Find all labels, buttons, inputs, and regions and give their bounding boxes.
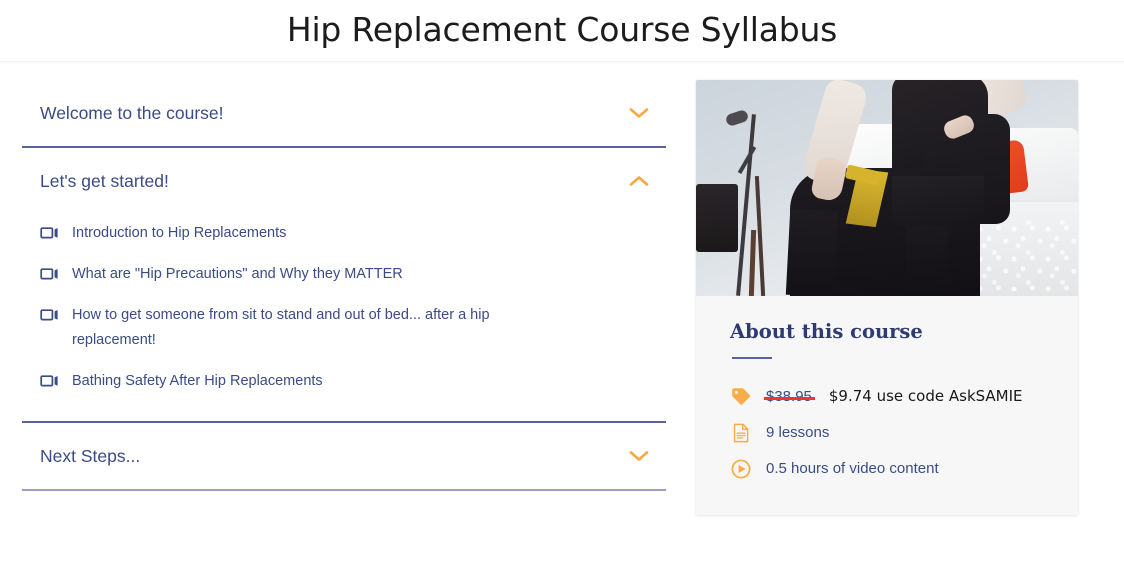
price-discounted-with-code: $9.74 use code AskSAMIE [829, 385, 1023, 407]
price-text: $38.95 $9.74 use code AskSAMIE [766, 385, 1023, 408]
syllabus-accordion: Welcome to the course! Let's get started… [22, 80, 666, 491]
about-course-card: About this course $38.95 $9.74 use code … [696, 80, 1078, 515]
lessons-count-row: 9 lessons [730, 415, 1044, 451]
lesson-label: Introduction to Hip Replacements [72, 221, 286, 246]
price-tag-icon [730, 386, 752, 408]
video-duration-text: 0.5 hours of video content [766, 458, 939, 480]
course-thumbnail-image [696, 80, 1078, 296]
accordion-section-title: Next Steps... [40, 445, 140, 467]
list-item[interactable]: Bathing Safety After Hip Replacements [40, 362, 660, 403]
video-camera-icon [40, 371, 59, 391]
accordion-section-title: Welcome to the course! [40, 102, 224, 124]
accordion-header-welcome[interactable]: Welcome to the course! [22, 80, 666, 146]
list-item[interactable]: How to get someone from sit to stand and… [40, 296, 660, 362]
accordion-header-next-steps[interactable]: Next Steps... [22, 423, 666, 489]
lessons-count-text: 9 lessons [766, 422, 829, 444]
accordion-section: Let's get started! Introduction to Hip R… [22, 148, 666, 423]
page-body: Welcome to the course! Let's get started… [0, 62, 1124, 515]
lesson-label: What are "Hip Precautions" and Why they … [72, 262, 403, 287]
accordion-section: Welcome to the course! [22, 80, 666, 148]
list-item[interactable]: What are "Hip Precautions" and Why they … [40, 255, 660, 296]
heading-underline-rule [732, 357, 772, 359]
page-title: Hip Replacement Course Syllabus [0, 8, 1124, 52]
list-item[interactable]: Introduction to Hip Replacements [40, 214, 660, 255]
page-header: Hip Replacement Course Hip Replacement C… [0, 0, 1124, 62]
accordion-panel-lets-get-started: Introduction to Hip Replacements What ar… [22, 214, 666, 421]
video-duration-row: 0.5 hours of video content [730, 451, 1044, 487]
lesson-label: How to get someone from sit to stand and… [72, 303, 572, 353]
accordion-section-title: Let's get started! [40, 170, 169, 192]
about-card-content: About this course $38.95 $9.74 use code … [696, 296, 1078, 487]
about-card-heading: About this course [730, 320, 1044, 344]
price-row: $38.95 $9.74 use code AskSAMIE [730, 378, 1044, 415]
lesson-label: Bathing Safety After Hip Replacements [72, 369, 323, 394]
file-document-icon [730, 422, 752, 444]
video-camera-icon [40, 223, 59, 243]
accordion-section: Next Steps... [22, 423, 666, 491]
accordion-header-lets-get-started[interactable]: Let's get started! [22, 148, 666, 214]
play-circle-icon [730, 458, 752, 480]
chevron-up-icon[interactable] [628, 174, 650, 188]
video-camera-icon [40, 305, 59, 325]
video-camera-icon [40, 264, 59, 284]
chevron-down-icon[interactable] [628, 106, 650, 120]
price-original-strikethrough: $38.95 [766, 386, 812, 408]
chevron-down-icon[interactable] [628, 449, 650, 463]
